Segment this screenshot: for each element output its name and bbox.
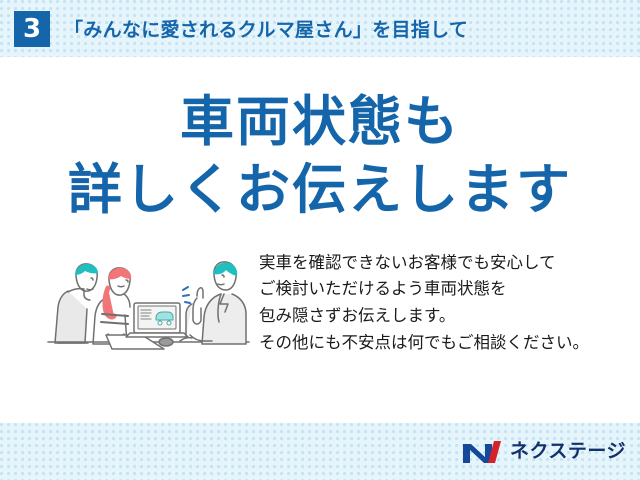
- header-band: 3 「みんなに愛されるクルマ屋さん」を目指して: [0, 0, 640, 57]
- header-title: 「みんなに愛されるクルマ屋さん」を目指して: [64, 15, 468, 42]
- promo-banner: 3 「みんなに愛されるクルマ屋さん」を目指して 車両状態も 詳しくお伝えします: [0, 0, 640, 480]
- nextage-n-logo-icon: [461, 439, 503, 465]
- body-text: 実車を確認できないお客様でも安心して ご検討いただけるよう車両状態を 包み隠さず…: [251, 246, 618, 357]
- consultation-illustration: [46, 246, 251, 356]
- headline: 車両状態も 詳しくお伝えします: [68, 93, 572, 220]
- main-content: 車両状態も 詳しくお伝えします: [0, 57, 640, 423]
- body-line-4: その他にも不安点は何でもご相談ください。: [259, 330, 618, 357]
- brand-logo-text: ネクステージ: [510, 442, 626, 461]
- brand-logo: ネクステージ: [461, 439, 626, 465]
- body-line-3: 包み隠さずお伝えします。: [259, 303, 618, 330]
- body-line-2: ご検討いただけるよう車両状態を: [259, 276, 618, 303]
- headline-line-2: 詳しくお伝えします: [68, 161, 572, 219]
- body-line-1: 実車を確認できないお客様でも安心して: [259, 250, 618, 277]
- footer-band: ネクステージ: [0, 423, 640, 480]
- content-row: 実車を確認できないお客様でも安心して ご検討いただけるよう車両状態を 包み隠さず…: [0, 246, 640, 357]
- step-number-badge: 3: [14, 11, 50, 47]
- headline-line-1: 車両状態も: [68, 93, 572, 151]
- consultation-illustration-svg: [46, 246, 251, 358]
